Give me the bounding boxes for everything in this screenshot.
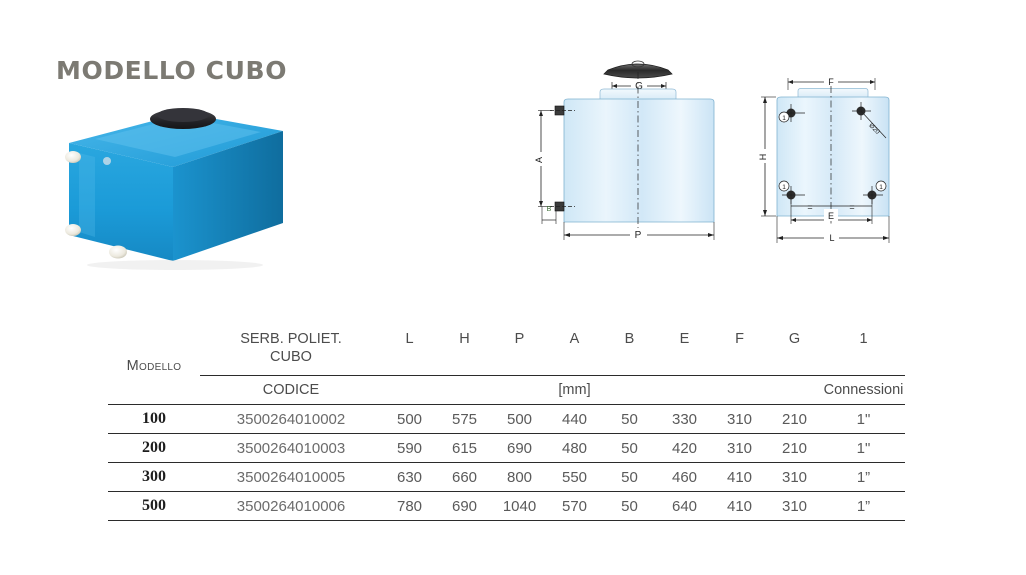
p-arrow-left (564, 233, 570, 237)
b-label: B (547, 206, 552, 213)
equal-mark-right: = (849, 202, 854, 212)
cell-E: 420 (657, 434, 712, 463)
cell-H: 615 (437, 434, 492, 463)
header-col-L: L (382, 322, 437, 376)
cell-connessioni: 1” (822, 492, 905, 521)
tank-body-side (564, 99, 714, 222)
cell-modello: 200 (108, 434, 200, 463)
h-arrow-bottom (763, 210, 767, 216)
header-col-1: 1 (822, 322, 905, 376)
h-arrow-top (763, 97, 767, 103)
header-col-H: H (437, 322, 492, 376)
tank-vent-port (103, 157, 111, 165)
g-arrow-right (661, 84, 666, 88)
e-label: E (828, 211, 834, 221)
tank-shadow (87, 260, 263, 270)
header-col-E: E (657, 322, 712, 376)
cell-F: 410 (712, 492, 767, 521)
cell-B: 50 (602, 492, 657, 521)
table-row[interactable]: 100 3500264010002 500 575 500 440 50 330… (108, 405, 905, 434)
table-header-row-secondary: CODICE [mm] Connessioni (108, 376, 905, 405)
cell-codice: 3500264010006 (200, 492, 382, 521)
cell-P: 690 (492, 434, 547, 463)
front-view-svg: F 1 Ø20 1 (755, 58, 920, 255)
table-row[interactable]: 300 3500264010005 630 660 800 550 50 460… (108, 463, 905, 492)
callout-1-upper-left: 1 (782, 115, 786, 122)
cell-B: 50 (602, 434, 657, 463)
h-label: H (758, 154, 768, 161)
a-arrow-bottom (539, 201, 543, 207)
p-arrow-right (708, 233, 714, 237)
header-col-B: B (602, 322, 657, 376)
header-serb-poliet-cubo: SERB. POLIET. CUBO (200, 322, 382, 376)
cell-A: 570 (547, 492, 602, 521)
cell-A: 480 (547, 434, 602, 463)
cell-G: 210 (767, 434, 822, 463)
side-view-drawing: G A B (530, 50, 745, 255)
cell-L: 780 (382, 492, 437, 521)
header-col-F: F (712, 322, 767, 376)
l-label: L (829, 233, 834, 243)
cell-B: 50 (602, 463, 657, 492)
header-sub-blank-H (437, 376, 492, 405)
header-sub-blank-E (657, 376, 712, 405)
f-arrow-right (870, 80, 875, 84)
cell-P: 1040 (492, 492, 547, 521)
header-col-P: P (492, 322, 547, 376)
p-label: P (635, 230, 642, 241)
callout-1-lower-left: 1 (782, 184, 786, 191)
f-label: F (828, 77, 834, 87)
cell-L: 630 (382, 463, 437, 492)
header-serb-line1: SERB. POLIET. (200, 331, 382, 348)
header-col-A: A (547, 322, 602, 376)
cell-P: 800 (492, 463, 547, 492)
table-row[interactable]: 500 3500264010006 780 690 1040 570 50 64… (108, 492, 905, 521)
e-arrow-left (791, 218, 796, 222)
product-photo (55, 95, 290, 270)
cell-F: 410 (712, 463, 767, 492)
cell-H: 575 (437, 405, 492, 434)
header-sub-mm: [mm] (547, 376, 602, 405)
cell-codice: 3500264010005 (200, 463, 382, 492)
cell-F: 310 (712, 405, 767, 434)
header-sub-codice: CODICE (200, 376, 382, 405)
cell-E: 460 (657, 463, 712, 492)
page-title: MODELLO CUBO (56, 56, 287, 85)
cell-connessioni: 1" (822, 405, 905, 434)
header-modello: Modello (108, 322, 200, 376)
header-col-G: G (767, 322, 822, 376)
callout-1-lower-right: 1 (879, 184, 883, 191)
cell-connessioni: 1" (822, 434, 905, 463)
header-sub-blank (108, 376, 200, 405)
header-sub-blank-B (602, 376, 657, 405)
tank-fitting-upper-left (65, 151, 81, 163)
front-view-drawing: F 1 Ø20 1 (755, 58, 920, 255)
cell-modello: 100 (108, 405, 200, 434)
tank-fitting-bottom (109, 246, 127, 259)
cell-E: 330 (657, 405, 712, 434)
l-arrow-right (883, 236, 889, 240)
cell-L: 590 (382, 434, 437, 463)
cell-B: 50 (602, 405, 657, 434)
cell-P: 500 (492, 405, 547, 434)
tank-photo-svg (55, 95, 290, 270)
table-row[interactable]: 200 3500264010003 590 615 690 480 50 420… (108, 434, 905, 463)
equal-mark-left: = (807, 202, 812, 212)
cell-codice: 3500264010002 (200, 405, 382, 434)
header-sub-blank-F (712, 376, 767, 405)
cell-G: 310 (767, 492, 822, 521)
cell-F: 310 (712, 434, 767, 463)
table-header-row-primary: Modello SERB. POLIET. CUBO L H P A B E F… (108, 322, 905, 376)
cell-modello: 300 (108, 463, 200, 492)
header-serb-line2: CUBO (200, 349, 382, 366)
cell-A: 440 (547, 405, 602, 434)
header-sub-blank-G (767, 376, 822, 405)
tank-fitting-lower-left (65, 224, 81, 236)
cell-E: 640 (657, 492, 712, 521)
header-sub-connessioni: Connessioni (822, 376, 905, 405)
cell-L: 500 (382, 405, 437, 434)
spec-table-element: Modello SERB. POLIET. CUBO L H P A B E F… (108, 322, 905, 521)
header-sub-blank-P (492, 376, 547, 405)
g-arrow-left (612, 84, 617, 88)
tank-cap-top (157, 108, 209, 122)
cell-G: 310 (767, 463, 822, 492)
side-view-svg: G A B (530, 50, 745, 255)
specifications-table: Modello SERB. POLIET. CUBO L H P A B E F… (108, 322, 905, 521)
cell-codice: 3500264010003 (200, 434, 382, 463)
a-label: A (534, 157, 544, 163)
cell-G: 210 (767, 405, 822, 434)
cell-connessioni: 1” (822, 463, 905, 492)
cell-modello: 500 (108, 492, 200, 521)
a-arrow-top (539, 111, 543, 117)
cell-H: 660 (437, 463, 492, 492)
header-sub-blank-L (382, 376, 437, 405)
f-arrow-left (788, 80, 793, 84)
cell-H: 690 (437, 492, 492, 521)
l-arrow-left (777, 236, 783, 240)
tank-highlight (79, 153, 95, 237)
cell-A: 550 (547, 463, 602, 492)
e-arrow-right (867, 218, 872, 222)
